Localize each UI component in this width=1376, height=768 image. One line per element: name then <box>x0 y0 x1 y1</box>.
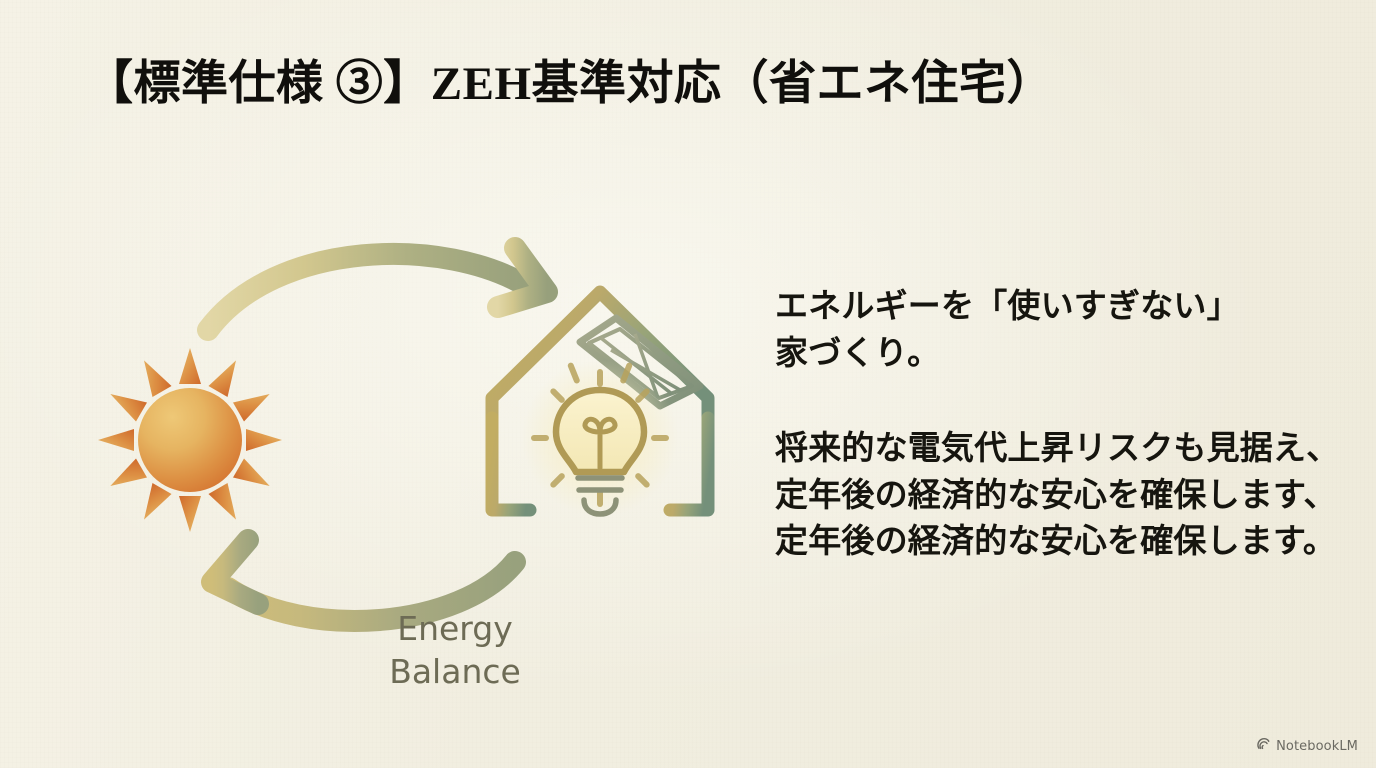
notebooklm-watermark: NotebookLM <box>1256 736 1358 756</box>
paragraph-2-line-1: 将来的な電気代上昇リスクも見据え、 <box>775 425 1335 472</box>
notebooklm-spiral-icon <box>1256 736 1271 756</box>
slide-canvas: 【標準仕様 ③】ZEH基準対応（省エネ住宅） <box>0 0 1376 768</box>
notebooklm-watermark-label: NotebookLM <box>1276 739 1358 754</box>
energy-balance-label-line2: Balance <box>360 651 550 694</box>
light-bulb-icon <box>522 360 678 516</box>
arrow-sun-to-house <box>208 248 547 330</box>
paragraph-2-line-3: 定年後の経済的な安心を確保します。 <box>775 518 1335 565</box>
paragraph-1: エネルギーを「使いすぎない」 家づくり。 <box>775 283 1335 377</box>
energy-balance-label: Energy Balance <box>360 608 550 694</box>
paragraph-2: 将来的な電気代上昇リスクも見据え、 定年後の経済的な安心を確保します、 定年後の… <box>775 425 1335 566</box>
paragraph-1-line-2: 家づくり。 <box>775 330 1335 377</box>
paragraph-2-line-2: 定年後の経済的な安心を確保します、 <box>775 472 1335 519</box>
body-text-column: エネルギーを「使いすぎない」 家づくり。 将来的な電気代上昇リスクも見据え、 定… <box>775 283 1335 565</box>
sun-disc <box>138 388 242 492</box>
energy-balance-illustration: Energy Balance <box>60 210 760 660</box>
energy-balance-label-line1: Energy <box>360 608 550 651</box>
sun-icon <box>98 348 282 532</box>
paragraph-1-line-1: エネルギーを「使いすぎない」 <box>775 283 1335 330</box>
page-title: 【標準仕様 ③】ZEH基準対応（省エネ住宅） <box>86 57 1054 111</box>
